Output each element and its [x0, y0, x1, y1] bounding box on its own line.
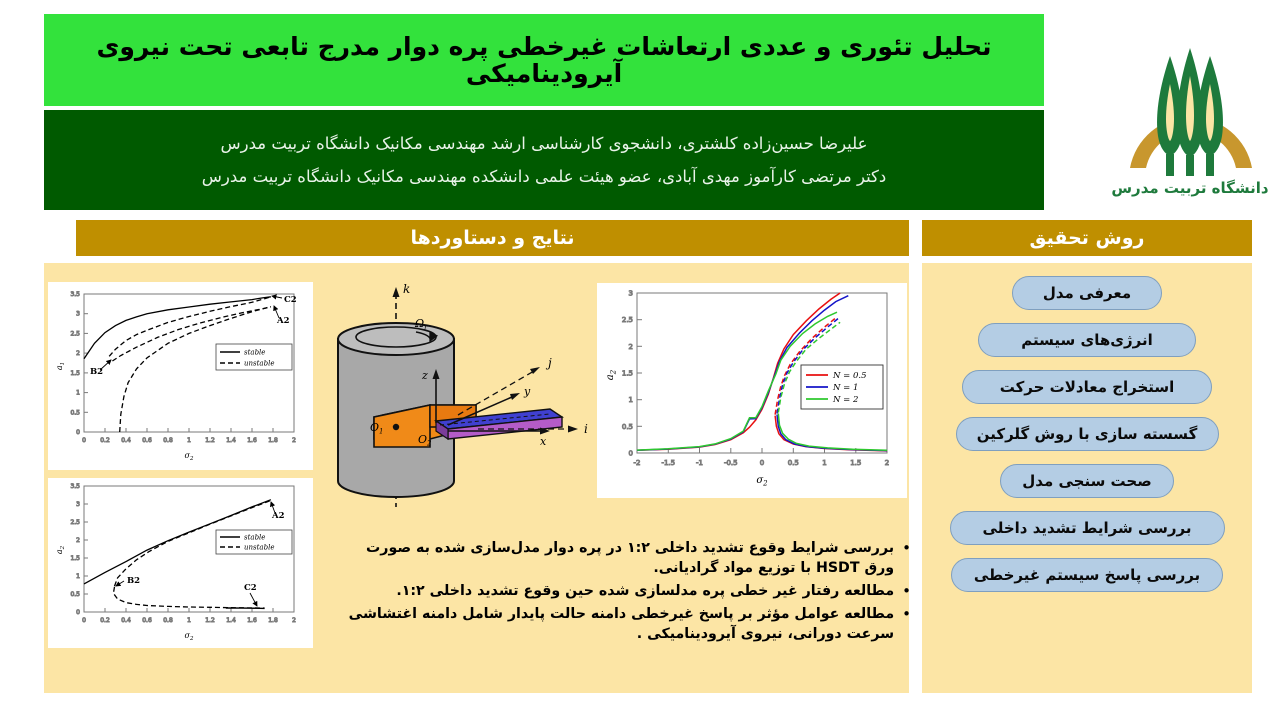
svg-text:2: 2	[629, 343, 633, 351]
logo-caption: دانشگاه تربیت مدرس	[1111, 179, 1269, 197]
svg-text:1: 1	[822, 459, 826, 467]
svg-text:2.5: 2.5	[70, 330, 80, 337]
svg-text:2: 2	[292, 617, 296, 624]
svg-text:1.4: 1.4	[226, 617, 236, 624]
svg-text:0.8: 0.8	[163, 617, 173, 624]
annotation-A2-2: A2	[271, 511, 285, 521]
svg-text:1.8: 1.8	[268, 617, 278, 624]
svg-text:3: 3	[629, 290, 633, 298]
svg-text:0.5: 0.5	[70, 591, 80, 598]
svg-text:3: 3	[76, 311, 80, 318]
j-axis-line	[458, 371, 534, 415]
svg-text:0.6: 0.6	[142, 437, 152, 444]
svg-text:0.4: 0.4	[121, 617, 131, 624]
section-header-results-label: نتایج و دستاوردها	[410, 227, 574, 249]
figure-frf-a2-svg: 0 0.5 1 1.5 2 2.5 3 3.5 0 0.2 0.4 0.6 0.…	[48, 478, 313, 648]
svg-text:2: 2	[885, 459, 889, 467]
svg-text:0.2: 0.2	[100, 437, 110, 444]
legend-stable: stable	[244, 349, 265, 357]
results-bullets: • بررسی شرایط وقوع تشدید داخلی ۱:۲ در پر…	[336, 538, 911, 647]
svg-text:1.2: 1.2	[205, 617, 215, 624]
svg-text:0: 0	[76, 429, 80, 436]
svg-text:1: 1	[187, 617, 191, 624]
legend-unstable: unstable	[244, 360, 274, 368]
j-axis-label: j	[545, 356, 552, 370]
annotation-C2-2: C2	[244, 583, 257, 593]
svg-text:0: 0	[760, 459, 764, 467]
legend-N-2: N = 2	[832, 395, 858, 405]
svg-text:2.5: 2.5	[70, 519, 80, 526]
svg-text:0.5: 0.5	[622, 423, 633, 431]
rotating-blade-schematic-svg: k Ωr j i	[318, 275, 596, 525]
bullet-text: مطالعه رفتار غیر خطی پره مدلسازی شده حین…	[396, 581, 894, 601]
figure-frf-a2-legend: stable unstable	[216, 530, 292, 554]
svg-text:0.8: 0.8	[163, 437, 173, 444]
title-band: تحلیل تئوری و عددی ارتعاشات غیرخطی پره د…	[44, 14, 1044, 106]
legend-N-1: N = 1	[832, 383, 858, 393]
svg-text:0.2: 0.2	[100, 617, 110, 624]
annotation-B2-2: B2	[127, 576, 140, 586]
svg-text:0: 0	[629, 450, 633, 458]
svg-text:1.8: 1.8	[268, 437, 278, 444]
svg-text:1.2: 1.2	[205, 437, 215, 444]
svg-text:1.5: 1.5	[850, 459, 861, 467]
bullet-dot: •	[902, 538, 911, 558]
svg-text:1.6: 1.6	[247, 617, 257, 624]
bullet-item: • مطالعه عوامل مؤثر بر پاسخ غیرخطی دامنه…	[336, 604, 911, 644]
poster-root: تحلیل تئوری و عددی ارتعاشات غیرخطی پره د…	[0, 0, 1280, 720]
svg-text:0: 0	[76, 609, 80, 616]
method-step-equations-of-motion[interactable]: استخراج معادلات حرکت	[962, 370, 1212, 404]
figure-N-sweep-svg: 0 0.5 1 1.5 2 2.5 3 -2 -1.5 -1 -0.5 0 0.…	[597, 283, 907, 498]
svg-text:2.5: 2.5	[622, 316, 633, 324]
y-axis-label: y	[523, 385, 531, 398]
svg-text:0.5: 0.5	[70, 409, 80, 416]
figure-N-sweep-legend: N = 0.5 N = 1 N = 2	[801, 365, 883, 409]
svg-text:1.6: 1.6	[247, 437, 257, 444]
svg-text:0: 0	[82, 437, 86, 444]
section-header-results: نتایج و دستاوردها	[76, 220, 909, 256]
bullet-item: • بررسی شرایط وقوع تشدید داخلی ۱:۲ در پر…	[336, 538, 911, 578]
svg-text:3: 3	[76, 501, 80, 508]
i-axis-label: i	[584, 422, 588, 436]
bullet-dot: •	[902, 581, 911, 601]
method-panel: معرفی مدل انرژی‌های سیستم استخراج معادلا…	[922, 263, 1252, 693]
svg-text:0.6: 0.6	[142, 617, 152, 624]
annotation-A2: A2	[276, 316, 290, 326]
k-axis-arrow	[393, 287, 400, 297]
section-header-method-label: روش تحقیق	[1030, 227, 1145, 249]
z-axis-label: z	[421, 369, 428, 382]
university-logo: دانشگاه تربیت مدرس	[1110, 18, 1270, 206]
section-header-method: روش تحقیق	[922, 220, 1252, 256]
i-axis-arrow	[568, 426, 578, 433]
svg-text:0.5: 0.5	[788, 459, 799, 467]
omega-label: Ωr	[414, 317, 428, 332]
svg-text:0.4: 0.4	[121, 437, 131, 444]
legend-stable-2: stable	[244, 534, 265, 542]
svg-text:1.5: 1.5	[70, 555, 80, 562]
bullet-text: بررسی شرایط وقوع تشدید داخلی ۱:۲ در پره …	[336, 538, 894, 578]
svg-text:-0.5: -0.5	[724, 459, 738, 467]
method-step-nonlinear-response[interactable]: بررسی پاسخ سیستم غیرخطی	[951, 558, 1223, 592]
method-step-galerkin-discretization[interactable]: گسسته سازی با روش گلرکین	[956, 417, 1219, 451]
author-line-2: دکتر مرتضی کارآموز مهدی آبادی، عضو هیئت …	[202, 167, 887, 186]
bullet-dot: •	[902, 604, 911, 624]
legend-unstable-2: unstable	[244, 544, 274, 552]
figure-N-sweep: 0 0.5 1 1.5 2 2.5 3 -2 -1.5 -1 -0.5 0 0.…	[597, 283, 907, 498]
figure-frf-a1-svg: 0 0.5 1 1.5 2 2.5 3 3.5 0 0.2 0.4 0.6 0.…	[48, 282, 313, 470]
svg-text:3.5: 3.5	[70, 483, 80, 490]
svg-text:2: 2	[292, 437, 296, 444]
svg-text:1: 1	[76, 573, 80, 580]
annotation-C2: C2	[284, 295, 297, 305]
bullet-text: مطالعه عوامل مؤثر بر پاسخ غیرخطی دامنه ح…	[336, 604, 894, 644]
y-axis-arrow	[510, 393, 520, 400]
svg-text:1.5: 1.5	[622, 370, 633, 378]
figure-frf-a2: 0 0.5 1 1.5 2 2.5 3 3.5 0 0.2 0.4 0.6 0.…	[48, 478, 313, 648]
svg-text:0: 0	[82, 617, 86, 624]
page-title: تحلیل تئوری و عددی ارتعاشات غیرخطی پره د…	[44, 33, 1044, 88]
svg-text:-1.5: -1.5	[661, 459, 675, 467]
svg-text:-1: -1	[696, 459, 703, 467]
method-step-system-energies[interactable]: انرژی‌های سیستم	[978, 323, 1196, 357]
rotating-blade-schematic: k Ωr j i	[318, 275, 596, 525]
logo-graphic: دانشگاه تربیت مدرس	[1110, 18, 1270, 206]
author-line-1: علیرضا حسین‌زاده کلشتری، دانشجوی کارشناس…	[221, 134, 868, 153]
svg-text:1: 1	[76, 390, 80, 397]
svg-text:2: 2	[76, 537, 80, 544]
method-step-internal-resonance[interactable]: بررسی شرایط تشدید داخلی	[950, 511, 1225, 545]
svg-text:1.4: 1.4	[226, 437, 236, 444]
legend-N-0.5: N = 0.5	[832, 371, 866, 381]
figure-frf-a1-legend: stable unstable	[216, 344, 292, 370]
x-axis-label: x	[540, 435, 547, 448]
svg-text:1: 1	[629, 396, 633, 404]
figure-frf-a1: 0 0.5 1 1.5 2 2.5 3 3.5 0 0.2 0.4 0.6 0.…	[48, 282, 313, 470]
method-step-intro-model[interactable]: معرفی مدل	[1012, 276, 1162, 310]
k-axis-label: k	[403, 282, 410, 296]
svg-text:1: 1	[187, 437, 191, 444]
origin-1-dot	[393, 424, 399, 430]
svg-text:3.5: 3.5	[70, 291, 80, 298]
method-step-model-validation[interactable]: صحت سنجی مدل	[1000, 464, 1174, 498]
authors-band: علیرضا حسین‌زاده کلشتری، دانشجوی کارشناس…	[44, 110, 1044, 210]
svg-text:-2: -2	[634, 459, 641, 467]
poster-header: تحلیل تئوری و عددی ارتعاشات غیرخطی پره د…	[44, 14, 1044, 210]
bullet-item: • مطالعه رفتار غیر خطی پره مدلسازی شده ح…	[336, 581, 911, 601]
svg-text:1.5: 1.5	[70, 370, 80, 377]
svg-text:2: 2	[76, 350, 80, 357]
